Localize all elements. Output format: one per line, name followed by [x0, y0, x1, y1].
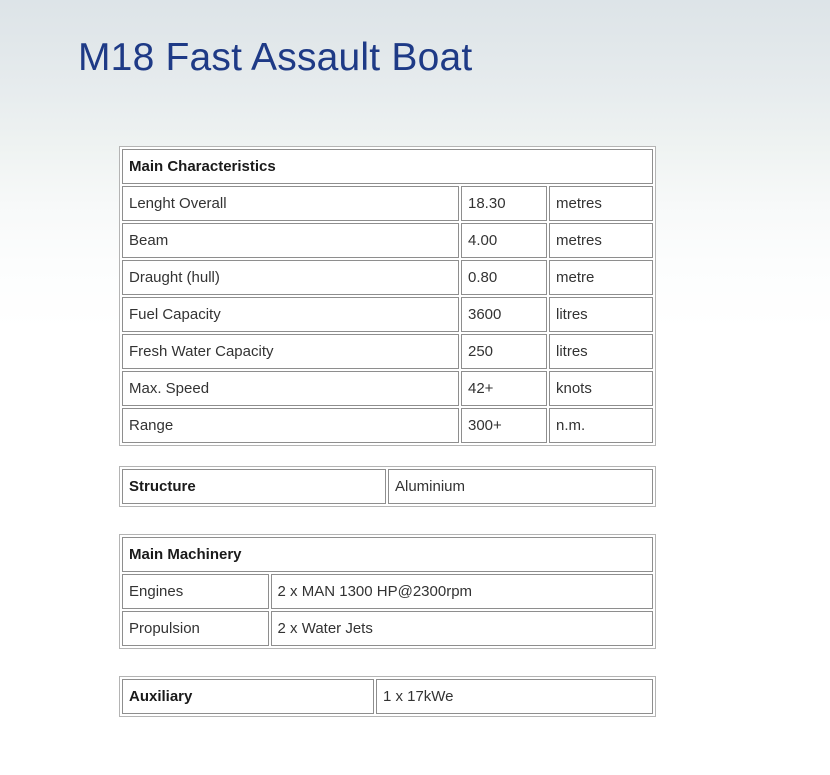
main-characteristics-table: Main Characteristics Lenght Overall 18.3…	[119, 146, 656, 446]
machinery-label: Engines	[122, 574, 269, 609]
spec-unit: litres	[549, 334, 653, 369]
table-row: Fuel Capacity 3600 litres	[122, 297, 653, 332]
spec-value: 3600	[461, 297, 547, 332]
structure-label: Structure	[122, 469, 386, 504]
machinery-value: 2 x MAN 1300 HP@2300rpm	[271, 574, 653, 609]
spec-unit: metres	[549, 223, 653, 258]
machinery-label: Propulsion	[122, 611, 269, 646]
spec-label: Max. Speed	[122, 371, 459, 406]
spec-value: 0.80	[461, 260, 547, 295]
spec-label: Draught (hull)	[122, 260, 459, 295]
page-title: M18 Fast Assault Boat	[78, 36, 472, 80]
spec-unit: metre	[549, 260, 653, 295]
main-machinery-table: Main Machinery Engines 2 x MAN 1300 HP@2…	[119, 534, 656, 649]
spec-label: Beam	[122, 223, 459, 258]
table-row: Lenght Overall 18.30 metres	[122, 186, 653, 221]
spec-value: 300+	[461, 408, 547, 443]
table-row: Draught (hull) 0.80 metre	[122, 260, 653, 295]
table-row: Fresh Water Capacity 250 litres	[122, 334, 653, 369]
spec-value: 250	[461, 334, 547, 369]
spec-label: Range	[122, 408, 459, 443]
spec-unit: knots	[549, 371, 653, 406]
auxiliary-value: 1 x 17kWe	[376, 679, 653, 714]
spec-unit: n.m.	[549, 408, 653, 443]
table-row: Beam 4.00 metres	[122, 223, 653, 258]
spec-value: 4.00	[461, 223, 547, 258]
spec-label: Lenght Overall	[122, 186, 459, 221]
table-row: Max. Speed 42+ knots	[122, 371, 653, 406]
table-row: Range 300+ n.m.	[122, 408, 653, 443]
spec-value: 42+	[461, 371, 547, 406]
main-machinery-header: Main Machinery	[122, 537, 653, 572]
table-row: Engines 2 x MAN 1300 HP@2300rpm	[122, 574, 653, 609]
structure-table: Structure Aluminium	[119, 466, 656, 507]
table-row: Propulsion 2 x Water Jets	[122, 611, 653, 646]
main-characteristics-header: Main Characteristics	[122, 149, 653, 184]
spec-unit: litres	[549, 297, 653, 332]
table-row: Structure Aluminium	[122, 469, 653, 504]
structure-value: Aluminium	[388, 469, 653, 504]
specification-sheet: M18 Fast Assault Boat Main Characteristi…	[0, 0, 830, 775]
spec-unit: metres	[549, 186, 653, 221]
spec-value: 18.30	[461, 186, 547, 221]
auxiliary-table: Auxiliary 1 x 17kWe	[119, 676, 656, 717]
table-section-header-row: Main Characteristics	[122, 149, 653, 184]
auxiliary-label: Auxiliary	[122, 679, 374, 714]
machinery-value: 2 x Water Jets	[271, 611, 653, 646]
table-section-header-row: Main Machinery	[122, 537, 653, 572]
spec-label: Fuel Capacity	[122, 297, 459, 332]
spec-label: Fresh Water Capacity	[122, 334, 459, 369]
table-row: Auxiliary 1 x 17kWe	[122, 679, 653, 714]
